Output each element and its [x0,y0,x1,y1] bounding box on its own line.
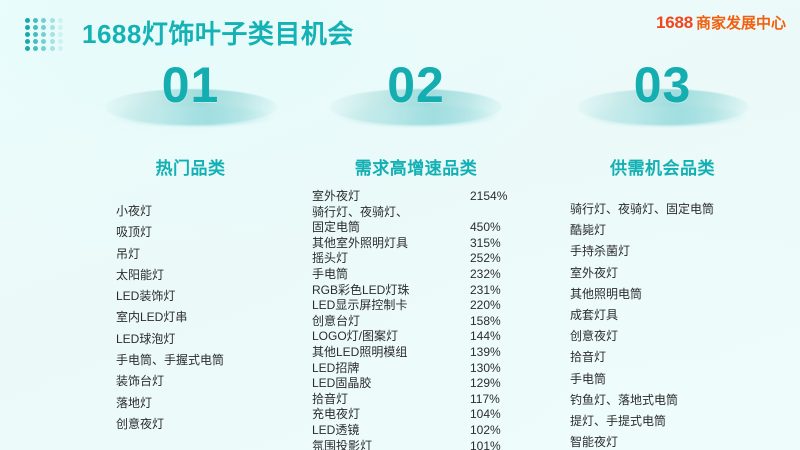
category-label: LED透镜 [312,423,359,439]
column-1-header: 01 [78,58,303,148]
page-title: 1688灯饰叶子类目机会 [82,14,354,51]
category-label: 摇头灯 [312,251,348,267]
category-label: 室外夜灯 [312,189,360,205]
list-item: 成套灯具 [570,305,795,326]
list-item: 氛围投影灯101% [312,439,532,450]
category-label: LED显示屏控制卡 [312,298,407,314]
dot [25,46,30,51]
list-item: LED装饰灯 [116,286,303,307]
list-item: 吊灯 [116,244,303,265]
column-1-list: 小夜灯吸顶灯吊灯太阳能灯LED装饰灯室内LED灯串LED球泡灯手电筒、手握式电筒… [78,201,303,435]
list-item: 手持杀菌灯 [570,241,795,262]
brand-label: 商家发展中心 [696,15,786,32]
dot [33,25,38,30]
category-label: 骑行灯、夜骑灯、 [312,205,408,221]
list-item: 钓鱼灯、落地式电筒 [570,390,795,411]
list-item: LED招牌130% [312,361,532,377]
growth-value: 117% [470,392,532,408]
dot [25,39,30,44]
list-item: LED透镜102% [312,423,532,439]
list-item: 室外夜灯2154% [312,189,532,205]
list-item: LED显示屏控制卡220% [312,298,532,314]
dot [50,39,55,44]
growth-value: 220% [470,298,532,314]
dot [50,32,55,37]
dot [33,39,38,44]
category-label: 创意台灯 [312,314,360,330]
column-3-header: 03 [530,58,795,148]
dot [41,39,46,44]
columns-container: 01 热门品类 小夜灯吸顶灯吊灯太阳能灯LED装饰灯室内LED灯串LED球泡灯手… [0,58,800,450]
list-item: 其他照明电筒 [570,284,795,305]
dot [58,32,63,37]
growth-value: 102% [470,423,532,439]
dot [50,25,55,30]
list-item: 太阳能灯 [116,265,303,286]
growth-value: 144% [470,329,532,345]
column-hot-categories: 01 热门品类 小夜灯吸顶灯吊灯太阳能灯LED装饰灯室内LED灯串LED球泡灯手… [78,58,303,450]
column-1-title: 热门品类 [78,154,303,179]
column-3-list: 骑行灯、夜骑灯、固定电筒酷毙灯手持杀菌灯室外夜灯其他照明电筒成套灯具创意夜灯拾音… [530,199,795,450]
column-2-list: 室外夜灯2154%骑行灯、夜骑灯、固定电筒450%其他室外照明灯具315%摇头灯… [300,189,532,450]
dot [41,18,46,23]
category-label: LED固晶胶 [312,376,371,392]
column-3-title: 供需机会品类 [530,154,795,179]
list-item: 充电夜灯104% [312,407,532,423]
list-item: 骑行灯、夜骑灯、 [312,205,532,221]
category-label: LED招牌 [312,361,359,377]
dot [50,46,55,51]
list-item: 创意台灯158% [312,314,532,330]
list-item: LED球泡灯 [116,329,303,350]
growth-value: 231% [470,283,532,299]
growth-value: 130% [470,361,532,377]
list-item: 吸顶灯 [116,222,303,243]
dot [58,39,63,44]
list-item: LOGO灯/图案灯144% [312,329,532,345]
dot [41,25,46,30]
list-item: 拾音灯117% [312,392,532,408]
growth-value: 232% [470,267,532,283]
category-label: 其他LED照明模组 [312,345,407,361]
list-item: 酷毙灯 [570,220,795,241]
dot [25,32,30,37]
category-label: 拾音灯 [312,392,348,408]
list-item: 小夜灯 [116,201,303,222]
column-supply-demand-opportunity: 03 供需机会品类 骑行灯、夜骑灯、固定电筒酷毙灯手持杀菌灯室外夜灯其他照明电筒… [530,58,795,450]
category-label: 氛围投影灯 [312,439,372,450]
list-item: 智能夜灯 [570,432,795,450]
list-item: 创意夜灯 [570,326,795,347]
list-item: LED固晶胶129% [312,376,532,392]
growth-value: 139% [470,345,532,361]
list-item: RGB彩色LED灯珠231% [312,283,532,299]
dot [33,18,38,23]
column-2-number: 02 [387,56,445,114]
category-label: LOGO灯/图案灯 [312,329,398,345]
list-item: 其他LED照明模组139% [312,345,532,361]
list-item: 室外夜灯 [570,263,795,284]
list-item: 摇头灯252% [312,251,532,267]
list-item: 手电筒 [570,369,795,390]
column-3-number: 03 [634,56,692,114]
dot [41,46,46,51]
list-item: 创意夜灯 [116,414,303,435]
growth-value: 2154% [470,189,532,205]
category-label: 充电夜灯 [312,407,360,423]
list-item: 拾音灯 [570,347,795,368]
slide-header: 1688灯饰叶子类目机会 1688商家发展中心 [0,0,800,58]
list-item: 固定电筒450% [312,220,532,236]
column-1-number: 01 [162,56,220,114]
list-item: 落地灯 [116,393,303,414]
dot [33,46,38,51]
list-item: 手电筒232% [312,267,532,283]
dot [25,18,30,23]
dot [58,18,63,23]
category-label: 固定电筒 [312,220,360,236]
list-item: 提灯、手提式电筒 [570,411,795,432]
dot [25,25,30,30]
column-2-title: 需求高增速品类 [300,154,532,179]
list-item: 其他室外照明灯具315% [312,236,532,252]
slide-canvas: 1688灯饰叶子类目机会 1688商家发展中心 01 热门品类 小夜灯吸顶灯吊灯… [0,0,800,450]
list-item: 手电筒、手握式电筒 [116,350,303,371]
dot [50,18,55,23]
growth-value: 104% [470,407,532,423]
growth-value: 158% [470,314,532,330]
growth-value: 252% [470,251,532,267]
growth-value: 129% [470,376,532,392]
dot [33,32,38,37]
brand-number: 1688 [656,13,693,32]
list-item: 装饰台灯 [116,371,303,392]
dot-grid-icon [25,18,65,52]
category-label: 其他室外照明灯具 [312,236,408,252]
list-item: 室内LED灯串 [116,307,303,328]
dot [58,25,63,30]
column-high-growth-categories: 02 需求高增速品类 室外夜灯2154%骑行灯、夜骑灯、固定电筒450%其他室外… [300,58,532,450]
dot [41,32,46,37]
growth-value: 315% [470,236,532,252]
dot [58,46,63,51]
category-label: 手电筒 [312,267,348,283]
growth-value: 450% [470,220,532,236]
list-item: 骑行灯、夜骑灯、固定电筒 [570,199,795,220]
column-2-header: 02 [300,58,532,148]
category-label: RGB彩色LED灯珠 [312,283,409,299]
growth-value: 101% [470,439,532,450]
brand-logo: 1688商家发展中心 [656,12,786,33]
